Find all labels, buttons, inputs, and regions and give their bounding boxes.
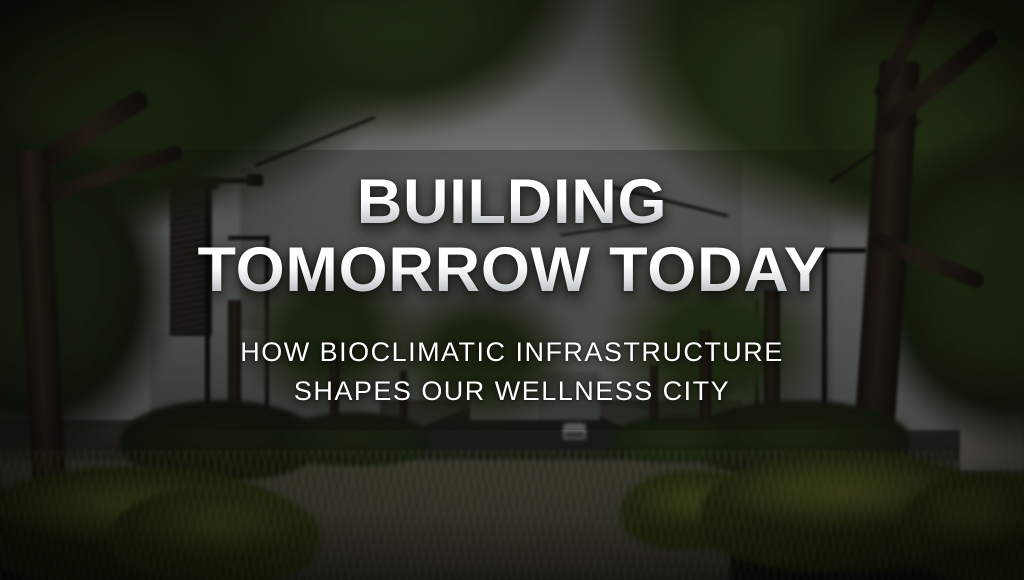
headline-line-1: BUILDING: [198, 170, 827, 236]
headline-group: BUILDING TOMORROW TODAY: [198, 170, 827, 303]
subtitle-group: HOW BIOCLIMATIC INFRASTRUCTURE SHAPES OU…: [240, 333, 784, 410]
subtitle-line-1: HOW BIOCLIMATIC INFRASTRUCTURE: [240, 333, 784, 371]
hero-banner: BUILDING TOMORROW TODAY HOW BIOCLIMATIC …: [0, 0, 1024, 580]
subtitle-line-2: SHAPES OUR WELLNESS CITY: [240, 372, 784, 410]
headline-line-2: TOMORROW TODAY: [198, 238, 827, 304]
text-content: BUILDING TOMORROW TODAY HOW BIOCLIMATIC …: [0, 0, 1024, 580]
